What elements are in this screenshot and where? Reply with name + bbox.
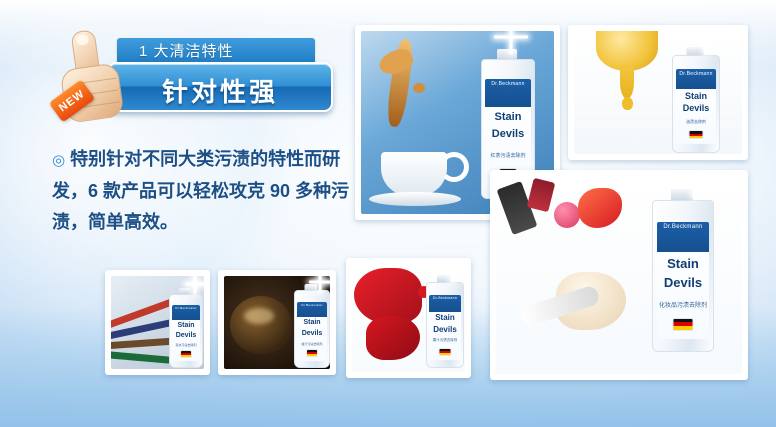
bottle-body: Dr.Beckmann Stain Devils 油渍去除剂	[672, 55, 720, 153]
brand-name: Dr.Beckmann	[657, 224, 710, 230]
product-name-line2: Devils	[485, 129, 531, 140]
ribbon-banner: 1 大清洁特性	[117, 38, 315, 64]
sauce-highlight	[244, 308, 274, 324]
coffee-droplet	[413, 83, 425, 93]
pen	[111, 338, 173, 350]
headline-text: 针对性强	[109, 72, 331, 109]
product-caption: 化妆品污渍去除剂	[657, 300, 710, 309]
photo-soy-sauce: Dr.Beckmann Stain Devils 酱汁污渍去除剂	[218, 270, 336, 375]
brand-name: Dr.Beckmann	[429, 296, 461, 300]
oil-droplet	[622, 97, 633, 110]
bottle-label: Dr.Beckmann Stain Devils 墨水污渍去除剂	[172, 305, 200, 361]
coffee-cup	[381, 152, 447, 196]
product-name-line1: Stain	[676, 92, 717, 101]
product-name-line2: Devils	[657, 276, 710, 289]
product-bottle: Dr.Beckmann Stain Devils 酱汁污渍去除剂	[294, 290, 328, 366]
product-caption: 红茶污渍去除剂	[485, 152, 531, 159]
product-caption: 油渍去除剂	[676, 119, 717, 125]
label-header: Dr.Beckmann	[676, 69, 717, 88]
brand-name: Dr.Beckmann	[172, 306, 200, 310]
photo-oil-drip: Dr.Beckmann Stain Devils 油渍去除剂	[568, 25, 748, 160]
product-name-line2: Devils	[297, 330, 327, 337]
german-flag-icon	[440, 349, 451, 355]
pointing-hand-icon: NEW	[49, 25, 136, 130]
product-bottle: Dr.Beckmann Stain Devils 化妆品污渍去除剂	[652, 200, 712, 350]
bullet-icon: ◎	[52, 152, 65, 169]
description-block: ◎ 特别针对不同大类污渍的特性而研发，6 款产品可以轻松攻克 90 多种污渍，简…	[52, 144, 352, 238]
photo-red-splash-image: Dr.Beckmann Stain Devils 果汁污渍去除剂	[352, 264, 465, 372]
label-header: Dr.Beckmann	[172, 305, 200, 320]
brand-name: Dr.Beckmann	[485, 81, 531, 87]
bottle-label: Dr.Beckmann Stain Devils 果汁污渍去除剂	[429, 295, 461, 361]
product-name-line2: Devils	[172, 332, 200, 339]
bottle-label: Dr.Beckmann Stain Devils 酱汁污渍去除剂	[297, 302, 327, 361]
bottle-body: Dr.Beckmann Stain Devils 酱汁污渍去除剂	[294, 290, 330, 368]
german-flag-icon	[181, 351, 191, 357]
product-name-line2: Devils	[429, 326, 461, 334]
product-bottle: Dr.Beckmann Stain Devils 墨水污渍去除剂	[169, 294, 201, 366]
ribbon-label: 1 大清洁特性	[139, 40, 234, 61]
lipstick	[527, 178, 556, 212]
bottle-body: Dr.Beckmann Stain Devils 墨水污渍去除剂	[169, 294, 203, 368]
bottle-label: Dr.Beckmann Stain Devils 油渍去除剂	[676, 69, 717, 144]
product-bottle: Dr.Beckmann Stain Devils 果汁污渍去除剂	[426, 282, 462, 366]
promo-banner: 1 大清洁特性 针对性强 NEW ◎ 特别针对不同大类污渍的特性而研发，6 款产…	[0, 0, 776, 427]
product-name-line1: Stain	[657, 257, 710, 270]
photo-oil-drip-image: Dr.Beckmann Stain Devils 油渍去除剂	[574, 31, 742, 154]
product-name-line1: Stain	[297, 319, 327, 326]
german-flag-icon	[307, 350, 317, 356]
juice-splash	[366, 316, 420, 360]
brand-name: Dr.Beckmann	[297, 303, 327, 307]
photo-ink-pens: Dr.Beckmann Stain Devils 墨水污渍去除剂	[105, 270, 210, 375]
photo-cosmetics-image: Dr.Beckmann Stain Devils 化妆品污渍去除剂	[496, 176, 742, 374]
bottle-body: Dr.Beckmann Stain Devils 化妆品污渍去除剂	[652, 200, 714, 352]
cup-saucer	[369, 192, 461, 206]
product-bottle: Dr.Beckmann Stain Devils 油渍去除剂	[672, 55, 718, 151]
product-name-line1: Stain	[172, 322, 200, 329]
powder-blob	[554, 202, 580, 228]
cup-handle	[439, 152, 469, 182]
label-header: Dr.Beckmann	[657, 222, 710, 252]
product-caption: 墨水污渍去除剂	[172, 343, 200, 347]
label-header: Dr.Beckmann	[429, 295, 461, 312]
label-header: Dr.Beckmann	[297, 302, 327, 317]
product-name-line1: Stain	[485, 112, 531, 123]
product-name-line1: Stain	[429, 314, 461, 322]
brand-name: Dr.Beckmann	[676, 71, 717, 77]
german-flag-icon	[674, 319, 693, 330]
bottle-label: Dr.Beckmann Stain Devils 化妆品污渍去除剂	[657, 222, 710, 339]
headline-badge: 1 大清洁特性 针对性强 NEW	[55, 28, 335, 128]
bottle-body: Dr.Beckmann Stain Devils 果汁污渍去除剂	[426, 282, 464, 368]
red-smear	[578, 188, 622, 228]
sauce-pan	[230, 296, 292, 354]
product-caption: 酱汁污渍去除剂	[297, 342, 327, 346]
pen	[111, 351, 171, 364]
german-flag-icon	[690, 131, 703, 138]
headline-plate: 针对性强	[107, 62, 333, 112]
photo-soy-sauce-image: Dr.Beckmann Stain Devils 酱汁污渍去除剂	[224, 276, 330, 369]
photo-cosmetics: Dr.Beckmann Stain Devils 化妆品污渍去除剂	[490, 170, 748, 380]
photo-ink-pens-image: Dr.Beckmann Stain Devils 墨水污渍去除剂	[111, 276, 204, 369]
label-header: Dr.Beckmann	[485, 79, 531, 107]
description-text: 特别针对不同大类污渍的特性而研发，6 款产品可以轻松攻克 90 多种污渍，简单高…	[52, 149, 349, 232]
product-caption: 果汁污渍去除剂	[429, 338, 461, 343]
product-name-line2: Devils	[676, 104, 717, 113]
oil-drip	[620, 65, 634, 99]
photo-red-splash: Dr.Beckmann Stain Devils 果汁污渍去除剂	[346, 258, 471, 378]
